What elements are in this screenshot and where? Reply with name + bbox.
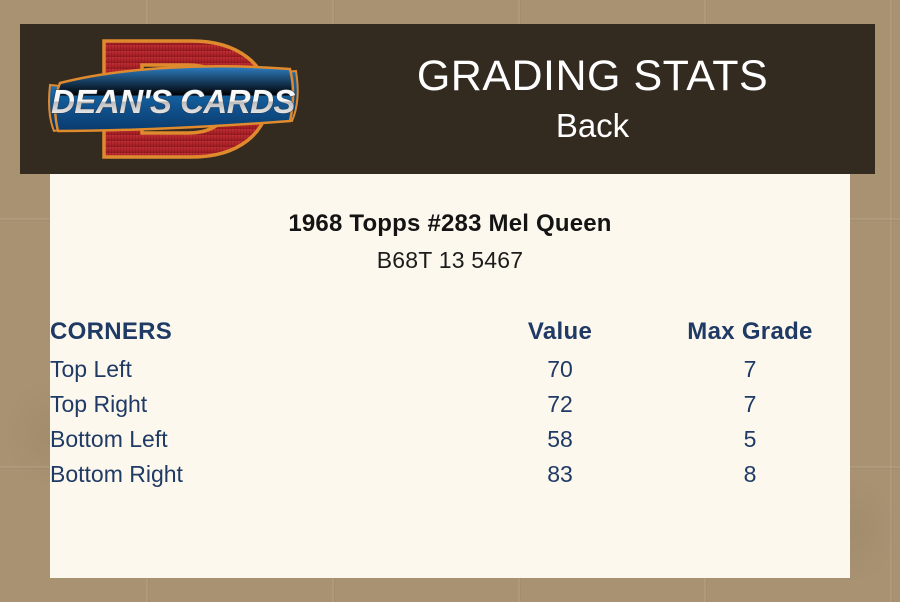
content-panel: 1968 Topps #283 Mel Queen B68T 13 5467 C… bbox=[50, 174, 850, 578]
grading-stats-table: CORNERS Value Max Grade Top Left 70 7 To… bbox=[50, 312, 850, 492]
row-value: 72 bbox=[470, 387, 650, 422]
row-max-grade: 8 bbox=[650, 457, 850, 492]
page-subtitle: Back bbox=[556, 105, 629, 147]
table-header-row: CORNERS Value Max Grade bbox=[50, 312, 850, 352]
row-max-grade: 5 bbox=[650, 422, 850, 457]
logo-wordmark: DEAN'S CARDS bbox=[51, 83, 295, 120]
row-label: Bottom Right bbox=[50, 457, 470, 492]
page-title: GRADING STATS bbox=[417, 51, 768, 101]
table-row: Top Right 72 7 bbox=[50, 387, 850, 422]
row-value: 83 bbox=[470, 457, 650, 492]
table-body: Top Left 70 7 Top Right 72 7 Bottom Left… bbox=[50, 352, 850, 492]
table-row: Bottom Left 58 5 bbox=[50, 422, 850, 457]
row-max-grade: 7 bbox=[650, 352, 850, 387]
deans-cards-logo[interactable]: DEAN'S CARDS bbox=[42, 27, 304, 171]
row-label: Top Left bbox=[50, 352, 470, 387]
column-header-max-grade: Max Grade bbox=[650, 312, 850, 352]
row-value: 58 bbox=[470, 422, 650, 457]
table-row: Top Left 70 7 bbox=[50, 352, 850, 387]
column-header-corners: CORNERS bbox=[50, 312, 470, 352]
card-title: 1968 Topps #283 Mel Queen bbox=[50, 210, 850, 238]
row-max-grade: 7 bbox=[650, 387, 850, 422]
table-row: Bottom Right 83 8 bbox=[50, 457, 850, 492]
header-bar: DEAN'S CARDS GRADING STATS Back bbox=[20, 24, 875, 174]
column-header-value: Value bbox=[470, 312, 650, 352]
row-value: 70 bbox=[470, 352, 650, 387]
row-label: Bottom Left bbox=[50, 422, 470, 457]
table-header: CORNERS Value Max Grade bbox=[50, 312, 850, 352]
header-title-block: GRADING STATS Back bbox=[310, 24, 875, 174]
card-serial-number: B68T 13 5467 bbox=[50, 247, 850, 274]
row-label: Top Right bbox=[50, 387, 470, 422]
logo-artwork: DEAN'S CARDS bbox=[42, 27, 304, 171]
